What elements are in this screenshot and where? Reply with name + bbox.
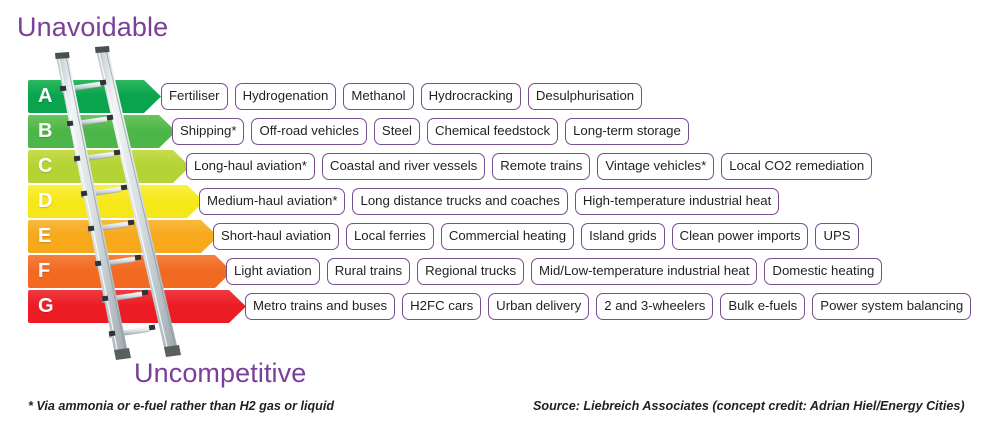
infographic-canvas: Unavoidable Uncompetitive AFertiliserHyd… — [0, 0, 984, 438]
use-case-chip[interactable]: H2FC cars — [402, 293, 481, 319]
use-case-chip[interactable]: Vintage vehicles* — [597, 153, 714, 179]
band-body — [28, 255, 215, 288]
use-case-chip[interactable]: Hydrocracking — [421, 83, 521, 109]
source-credit: Source: Liebreich Associates (concept cr… — [533, 399, 965, 413]
use-case-chip[interactable]: Remote trains — [492, 153, 590, 179]
use-case-chip[interactable]: Desulphurisation — [528, 83, 642, 109]
use-case-chip[interactable]: Long-haul aviation* — [186, 153, 315, 179]
use-case-chip[interactable]: High-temperature industrial heat — [575, 188, 779, 214]
use-case-chip[interactable]: Steel — [374, 118, 420, 144]
use-case-chip[interactable]: Rural trains — [327, 258, 410, 284]
grade-band-b: B — [28, 115, 176, 148]
grade-letter: D — [38, 185, 53, 218]
grade-band-c: C — [28, 150, 190, 183]
use-case-list-e: Short-haul aviationLocal ferriesCommerci… — [213, 220, 859, 253]
use-case-chip[interactable]: Domestic heating — [764, 258, 882, 284]
grade-letter: C — [38, 150, 53, 183]
grade-band-d: D — [28, 185, 204, 218]
use-case-chip[interactable]: Methanol — [343, 83, 413, 109]
use-case-chip[interactable]: Island grids — [581, 223, 664, 249]
grade-letter: F — [38, 255, 51, 288]
use-case-chip[interactable]: Long-term storage — [565, 118, 689, 144]
band-arrow-tip — [144, 80, 161, 113]
band-body — [28, 220, 201, 253]
use-case-chip[interactable]: Local CO2 remediation — [721, 153, 872, 179]
use-case-chip[interactable]: Medium-haul aviation* — [199, 188, 345, 214]
use-case-list-c: Long-haul aviation*Coastal and river ves… — [186, 150, 872, 183]
use-case-chip[interactable]: Metro trains and buses — [245, 293, 395, 319]
use-case-list-g: Metro trains and busesH2FC carsUrban del… — [245, 290, 971, 323]
use-case-chip[interactable]: Urban delivery — [488, 293, 589, 319]
use-case-chip[interactable]: Off-road vehicles — [251, 118, 366, 144]
use-case-list-a: FertiliserHydrogenationMethanolHydrocrac… — [161, 80, 642, 113]
grade-rows: AFertiliserHydrogenationMethanolHydrocra… — [0, 0, 984, 438]
use-case-list-b: Shipping*Off-road vehiclesSteelChemical … — [172, 115, 689, 148]
use-case-chip[interactable]: Bulk e-fuels — [720, 293, 805, 319]
use-case-chip[interactable]: Light aviation — [226, 258, 320, 284]
grade-letter: A — [38, 80, 53, 113]
use-case-chip[interactable]: Chemical feedstock — [427, 118, 558, 144]
use-case-chip[interactable]: Commercial heating — [441, 223, 574, 249]
use-case-chip[interactable]: UPS — [815, 223, 858, 249]
use-case-chip[interactable]: Mid/Low-temperature industrial heat — [531, 258, 757, 284]
grade-band-g: G — [28, 290, 246, 323]
use-case-chip[interactable]: Hydrogenation — [235, 83, 337, 109]
use-case-list-d: Medium-haul aviation*Long distance truck… — [199, 185, 779, 218]
use-case-chip[interactable]: Regional trucks — [417, 258, 524, 284]
grade-letter: G — [38, 290, 54, 323]
use-case-list-f: Light aviationRural trainsRegional truck… — [226, 255, 882, 288]
use-case-chip[interactable]: Shipping* — [172, 118, 244, 144]
use-case-chip[interactable]: Long distance trucks and coaches — [352, 188, 567, 214]
grade-band-f: F — [28, 255, 232, 288]
use-case-chip[interactable]: Fertiliser — [161, 83, 228, 109]
use-case-chip[interactable]: Clean power imports — [672, 223, 809, 249]
grade-band-a: A — [28, 80, 161, 113]
grade-letter: E — [38, 220, 52, 253]
use-case-chip[interactable]: Power system balancing — [812, 293, 971, 319]
use-case-chip[interactable]: 2 and 3-wheelers — [596, 293, 713, 319]
band-body — [28, 290, 229, 323]
use-case-chip[interactable]: Short-haul aviation — [213, 223, 339, 249]
grade-letter: B — [38, 115, 53, 148]
grade-band-e: E — [28, 220, 218, 253]
use-case-chip[interactable]: Coastal and river vessels — [322, 153, 485, 179]
footnote-asterisk: * Via ammonia or e-fuel rather than H2 g… — [28, 399, 334, 413]
band-arrow-tip — [229, 290, 246, 323]
use-case-chip[interactable]: Local ferries — [346, 223, 434, 249]
